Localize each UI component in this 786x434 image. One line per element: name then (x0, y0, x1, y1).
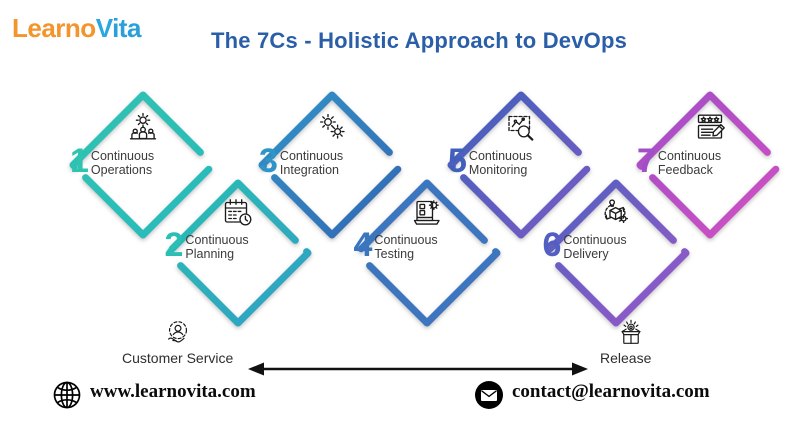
step-label: ContinuousFeedback (658, 148, 721, 177)
step-number: 3 (259, 148, 277, 174)
process-step-7[interactable]: 7ContinuousFeedback (631, 86, 786, 244)
process-diagram: 1ContinuousOperations2ContinuousPlanning… (0, 78, 786, 318)
laptop-test-icon (410, 196, 444, 230)
globe-icon (52, 380, 82, 410)
process-step-3[interactable]: 3ContinuousIntegration (253, 86, 411, 244)
email-address: contact@learnovita.com (512, 381, 710, 403)
process-step-1[interactable]: 1ContinuousOperations (64, 86, 222, 244)
gear-people-icon (126, 110, 160, 144)
page-title: The 7Cs - Holistic Approach to DevOps (0, 28, 786, 54)
flow-right-label: Release (600, 350, 651, 366)
step-number: 7 (637, 148, 655, 174)
website-url: www.learnovita.com (90, 381, 256, 403)
package-cycle-icon (599, 196, 633, 230)
step-number: 5 (448, 148, 466, 174)
step-label: ContinuousIntegration (280, 148, 343, 177)
infographic-page: LearnoVita The 7Cs - Holistic Approach t… (0, 0, 786, 434)
chart-search-icon (504, 110, 538, 144)
envelope-icon (474, 380, 504, 410)
step-number: 1 (70, 148, 88, 174)
double-headed-arrow-icon (248, 362, 588, 376)
process-step-5[interactable]: 5ContinuousMonitoring (442, 86, 600, 244)
calendar-clock-icon (221, 196, 255, 230)
step-label: ContinuousOperations (91, 148, 154, 177)
step-label: ContinuousMonitoring (469, 148, 532, 177)
flow-left-label: Customer Service (122, 350, 233, 366)
gears-icon (315, 110, 349, 144)
review-stars-icon (693, 110, 727, 144)
